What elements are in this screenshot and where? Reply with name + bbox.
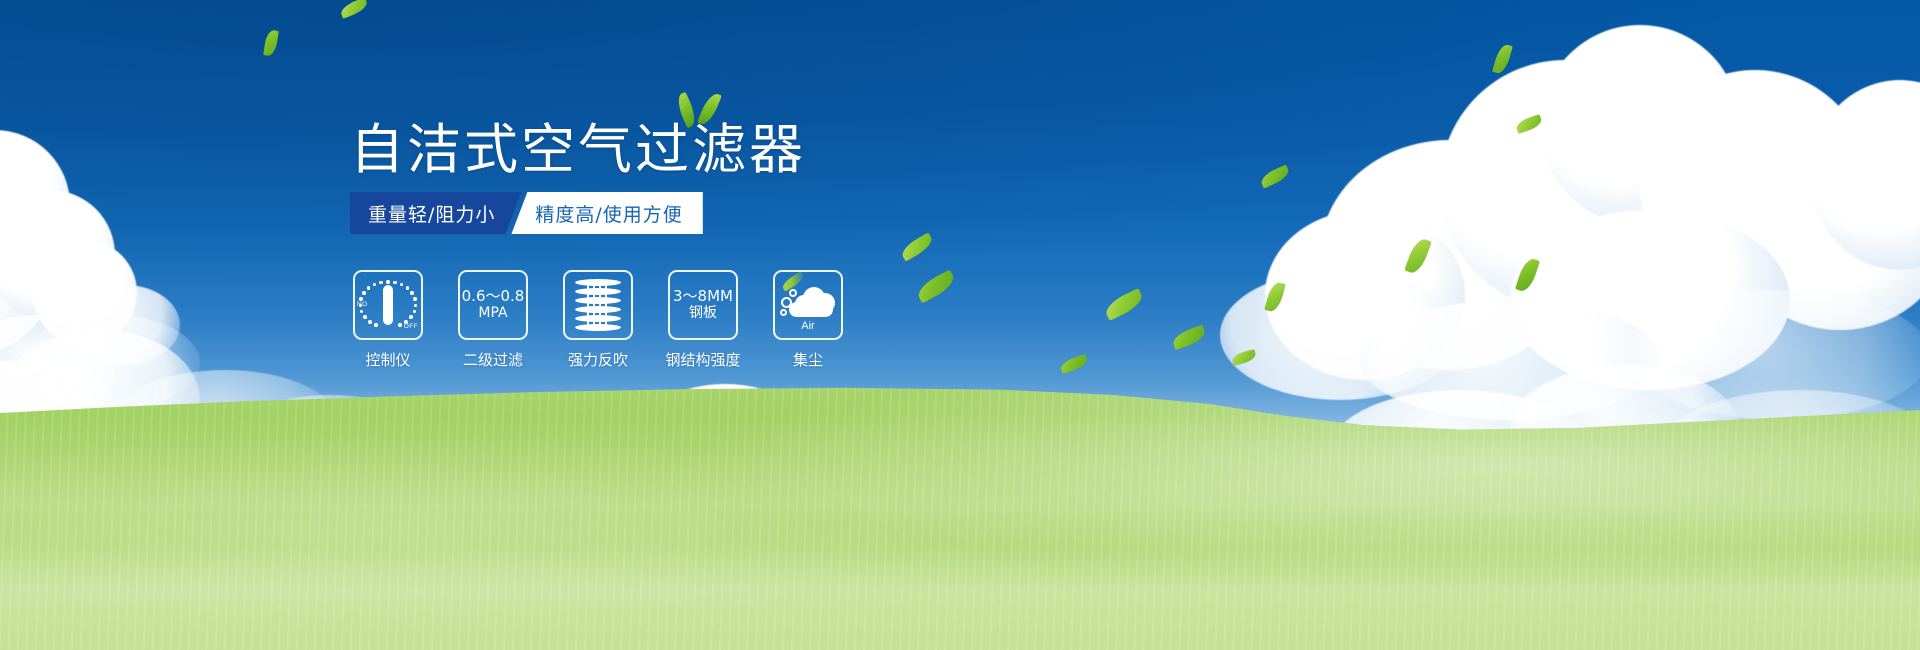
- feature-two-stage-filter: 0.6～0.8 MPA 二级过滤: [457, 270, 529, 370]
- feature-icon-box: [563, 270, 633, 340]
- gauge-off-label: OFF: [404, 323, 418, 330]
- feature-icon-row: NO OFF 控制仪 0.6～0.8 MPA 二级过滤: [352, 270, 844, 370]
- air-cloud-icon: Air: [779, 279, 837, 331]
- badge-weight-resistance: 重量轻/阻力小: [350, 192, 521, 234]
- feature-value-unit: MPA: [462, 305, 525, 322]
- feature-controller: NO OFF 控制仪: [352, 270, 424, 370]
- badge-label: 重量轻/阻力小: [368, 200, 495, 227]
- feature-value-unit: 钢板: [673, 305, 733, 322]
- feature-label: 二级过滤: [463, 349, 523, 370]
- badge-label: 精度高/使用方便: [535, 200, 682, 227]
- feature-icon-box: 0.6～0.8 MPA: [458, 270, 528, 340]
- feature-strong-backblow: 强力反吹: [562, 270, 634, 370]
- gauge-dial-icon: NO OFF: [358, 276, 418, 334]
- feature-dust-collection: Air 集尘: [772, 270, 844, 370]
- feature-value: 3～8MM: [673, 287, 733, 305]
- feature-label: 强力反吹: [568, 349, 628, 370]
- feature-badges: 重量轻/阻力小 精度高/使用方便: [350, 192, 703, 234]
- gauge-no-label: NO: [357, 301, 368, 308]
- pressure-value-icon: 0.6～0.8 MPA: [462, 288, 525, 322]
- feature-steel-strength: 3～8MM 钢板 钢结构强度: [667, 270, 739, 370]
- banner-stage: 自洁式空气过滤器 重量轻/阻力小 精度高/使用方便: [0, 0, 1920, 650]
- feature-icon-box: 3～8MM 钢板: [668, 270, 738, 340]
- coil-filter-icon: [575, 279, 621, 331]
- page-title: 自洁式空气过滤器: [350, 120, 806, 180]
- sprout-leaves-icon: [676, 90, 730, 130]
- steel-plate-icon: 3～8MM 钢板: [673, 288, 733, 322]
- air-label: Air: [779, 320, 837, 332]
- badge-precision-ease: 精度高/使用方便: [511, 192, 702, 234]
- feature-icon-box: NO OFF: [353, 270, 423, 340]
- feature-value: 0.6～0.8: [462, 287, 525, 305]
- feature-label: 控制仪: [365, 349, 410, 370]
- feature-icon-box: Air: [773, 270, 843, 340]
- feature-label: 钢结构强度: [666, 349, 741, 370]
- feature-label: 集尘: [793, 349, 823, 370]
